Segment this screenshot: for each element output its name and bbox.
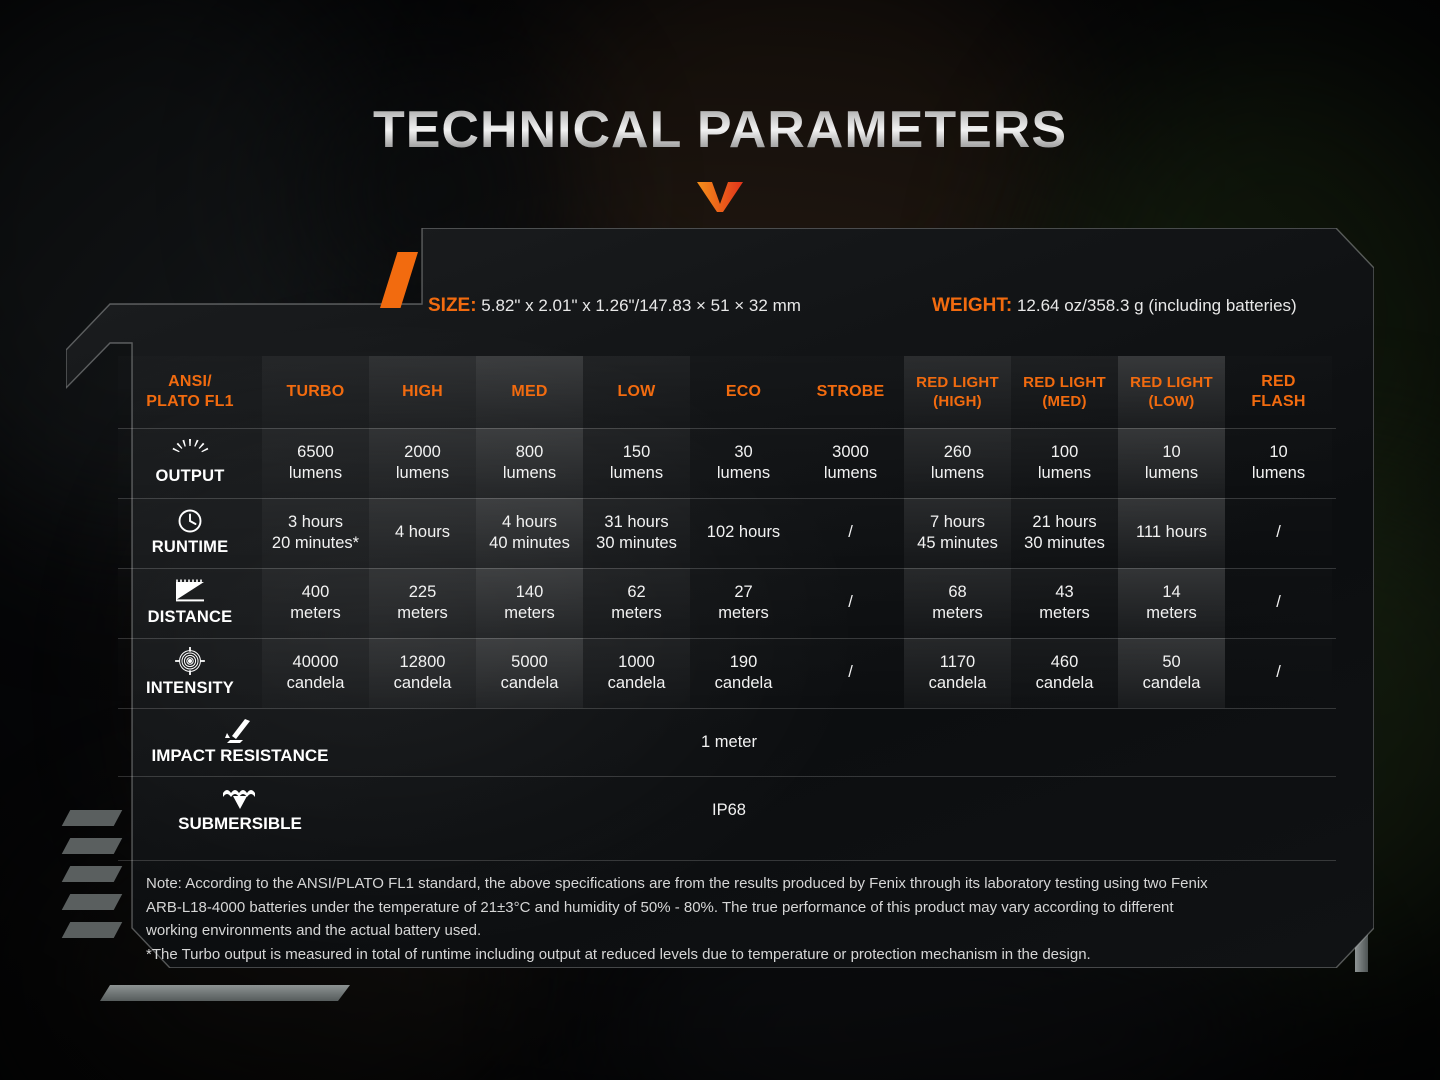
footnote-line-4: *The Turbo output is measured in total o… (146, 943, 1336, 967)
cell-output-red-low: 10 lumens (1118, 428, 1225, 498)
cell-distance-high: 225 meters (369, 568, 476, 638)
row-submersible: SUBMERSIBLE IP68 (118, 776, 1336, 844)
water-submersible-icon (220, 786, 260, 812)
cell-output-red-high: 260 lumens (904, 428, 1011, 498)
table-row: OUTPUT 6500 lumens 2000 lumens 800 lumen… (118, 428, 1336, 498)
row-label-text: IMPACT RESISTANCE (152, 746, 329, 766)
column-header-red-light-low: RED LIGHT (LOW) (1118, 356, 1225, 428)
header-line2: PLATO FL1 (146, 392, 233, 412)
footnote: Note: According to the ANSI/PLATO FL1 st… (146, 872, 1336, 967)
cell-output-high: 2000 lumens (369, 428, 476, 498)
table-header-row: ANSI/ PLATO FL1 TURBO HIGH MED LOW ECO S… (118, 356, 1336, 428)
row-label-text: INTENSITY (146, 678, 234, 699)
cell-intensity-low: 1000 candela (583, 638, 690, 708)
cell-distance-strobe: / (797, 568, 904, 638)
target-intensity-icon (175, 647, 205, 675)
cell-output-eco: 30 lumens (690, 428, 797, 498)
column-header-red-light-med: RED LIGHT (MED) (1011, 356, 1118, 428)
cell-output-red-flash: 10 lumens (1225, 428, 1332, 498)
cell-runtime-red-flash: / (1225, 498, 1332, 568)
cell-output-low: 150 lumens (583, 428, 690, 498)
cell-output-turbo: 6500 lumens (262, 428, 369, 498)
footnote-line-3: working environments and the actual batt… (146, 919, 1336, 943)
light-burst-icon (170, 439, 210, 463)
cell-output-med: 800 lumens (476, 428, 583, 498)
impact-drop-icon (223, 718, 257, 744)
table-row: DISTANCE 400 meters 225 meters 140 meter… (118, 568, 1336, 638)
cell-runtime-red-high: 7 hours 45 minutes (904, 498, 1011, 568)
cell-intensity-med: 5000 candela (476, 638, 583, 708)
value-impact-resistance: 1 meter (362, 733, 1336, 752)
page-title: TECHNICAL PARAMETERS (0, 100, 1440, 160)
column-header-red-light-high: RED LIGHT (HIGH) (904, 356, 1011, 428)
footnote-line-1: Note: According to the ANSI/PLATO FL1 st… (146, 872, 1336, 896)
cell-distance-med: 140 meters (476, 568, 583, 638)
frame-accent-bar-bottom (100, 985, 350, 1001)
cell-intensity-red-low: 50 candela (1118, 638, 1225, 708)
specifications-table: ANSI/ PLATO FL1 TURBO HIGH MED LOW ECO S… (118, 356, 1336, 844)
cell-distance-red-high: 68 meters (904, 568, 1011, 638)
row-label-text: RUNTIME (152, 537, 229, 558)
beam-distance-icon (172, 578, 208, 604)
frame-hash-stripes (66, 810, 118, 970)
size-value: 5.82" x 2.01" x 1.26"/147.83 × 51 × 32 m… (481, 296, 801, 315)
cell-distance-red-flash: / (1225, 568, 1332, 638)
cell-output-red-med: 100 lumens (1011, 428, 1118, 498)
header-ansi-plato: ANSI/ PLATO FL1 (118, 356, 262, 428)
header-line1: ANSI/ (168, 372, 212, 392)
cell-intensity-turbo: 40000 candela (262, 638, 369, 708)
cell-runtime-eco: 102 hours (690, 498, 797, 568)
column-header-eco: ECO (690, 356, 797, 428)
weight-spec: WEIGHT: 12.64 oz/358.3 g (including batt… (932, 295, 1297, 317)
cell-runtime-med: 4 hours 40 minutes (476, 498, 583, 568)
cell-runtime-red-low: 111 hours (1118, 498, 1225, 568)
cell-intensity-red-flash: / (1225, 638, 1332, 708)
row-label-distance: DISTANCE (118, 568, 262, 638)
cell-distance-red-low: 14 meters (1118, 568, 1225, 638)
column-header-med: MED (476, 356, 583, 428)
cell-intensity-eco: 190 candela (690, 638, 797, 708)
column-header-low: LOW (583, 356, 690, 428)
row-label-submersible: SUBMERSIBLE (118, 786, 362, 834)
column-header-red-flash: RED FLASH (1225, 356, 1332, 428)
cell-runtime-low: 31 hours 30 minutes (583, 498, 690, 568)
clock-icon (177, 508, 203, 534)
chevron-down-icon (697, 182, 743, 212)
table-row: INTENSITY 40000 candela 12800 candela 50… (118, 638, 1336, 708)
cell-distance-low: 62 meters (583, 568, 690, 638)
cell-output-strobe: 3000 lumens (797, 428, 904, 498)
row-label-intensity: INTENSITY (118, 638, 262, 708)
cell-intensity-red-med: 460 candela (1011, 638, 1118, 708)
row-label-impact-resistance: IMPACT RESISTANCE (118, 718, 362, 766)
cell-runtime-strobe: / (797, 498, 904, 568)
size-spec: SIZE: 5.82" x 2.01" x 1.26"/147.83 × 51 … (428, 295, 801, 317)
cell-intensity-strobe: / (797, 638, 904, 708)
column-header-high: HIGH (369, 356, 476, 428)
row-label-output: OUTPUT (118, 428, 262, 498)
cell-distance-red-med: 43 meters (1011, 568, 1118, 638)
cell-runtime-turbo: 3 hours 20 minutes* (262, 498, 369, 568)
size-label: SIZE: (428, 295, 477, 316)
row-label-runtime: RUNTIME (118, 498, 262, 568)
cell-runtime-high: 4 hours (369, 498, 476, 568)
row-label-text: SUBMERSIBLE (178, 814, 302, 834)
note-separator (118, 860, 1336, 861)
weight-value: 12.64 oz/358.3 g (including batteries) (1017, 296, 1297, 315)
cell-runtime-red-med: 21 hours 30 minutes (1011, 498, 1118, 568)
cell-intensity-red-high: 1170 candela (904, 638, 1011, 708)
cell-intensity-high: 12800 candela (369, 638, 476, 708)
cell-distance-turbo: 400 meters (262, 568, 369, 638)
column-header-turbo: TURBO (262, 356, 369, 428)
row-label-text: DISTANCE (148, 607, 233, 628)
row-label-text: OUTPUT (155, 466, 224, 487)
row-impact-resistance: IMPACT RESISTANCE 1 meter (118, 708, 1336, 776)
table-row: RUNTIME 3 hours 20 minutes* 4 hours 4 ho… (118, 498, 1336, 568)
column-header-strobe: STROBE (797, 356, 904, 428)
footnote-line-2: ARB-L18-4000 batteries under the tempera… (146, 896, 1336, 920)
weight-label: WEIGHT: (932, 295, 1012, 316)
value-submersible: IP68 (362, 801, 1336, 820)
cell-distance-eco: 27 meters (690, 568, 797, 638)
